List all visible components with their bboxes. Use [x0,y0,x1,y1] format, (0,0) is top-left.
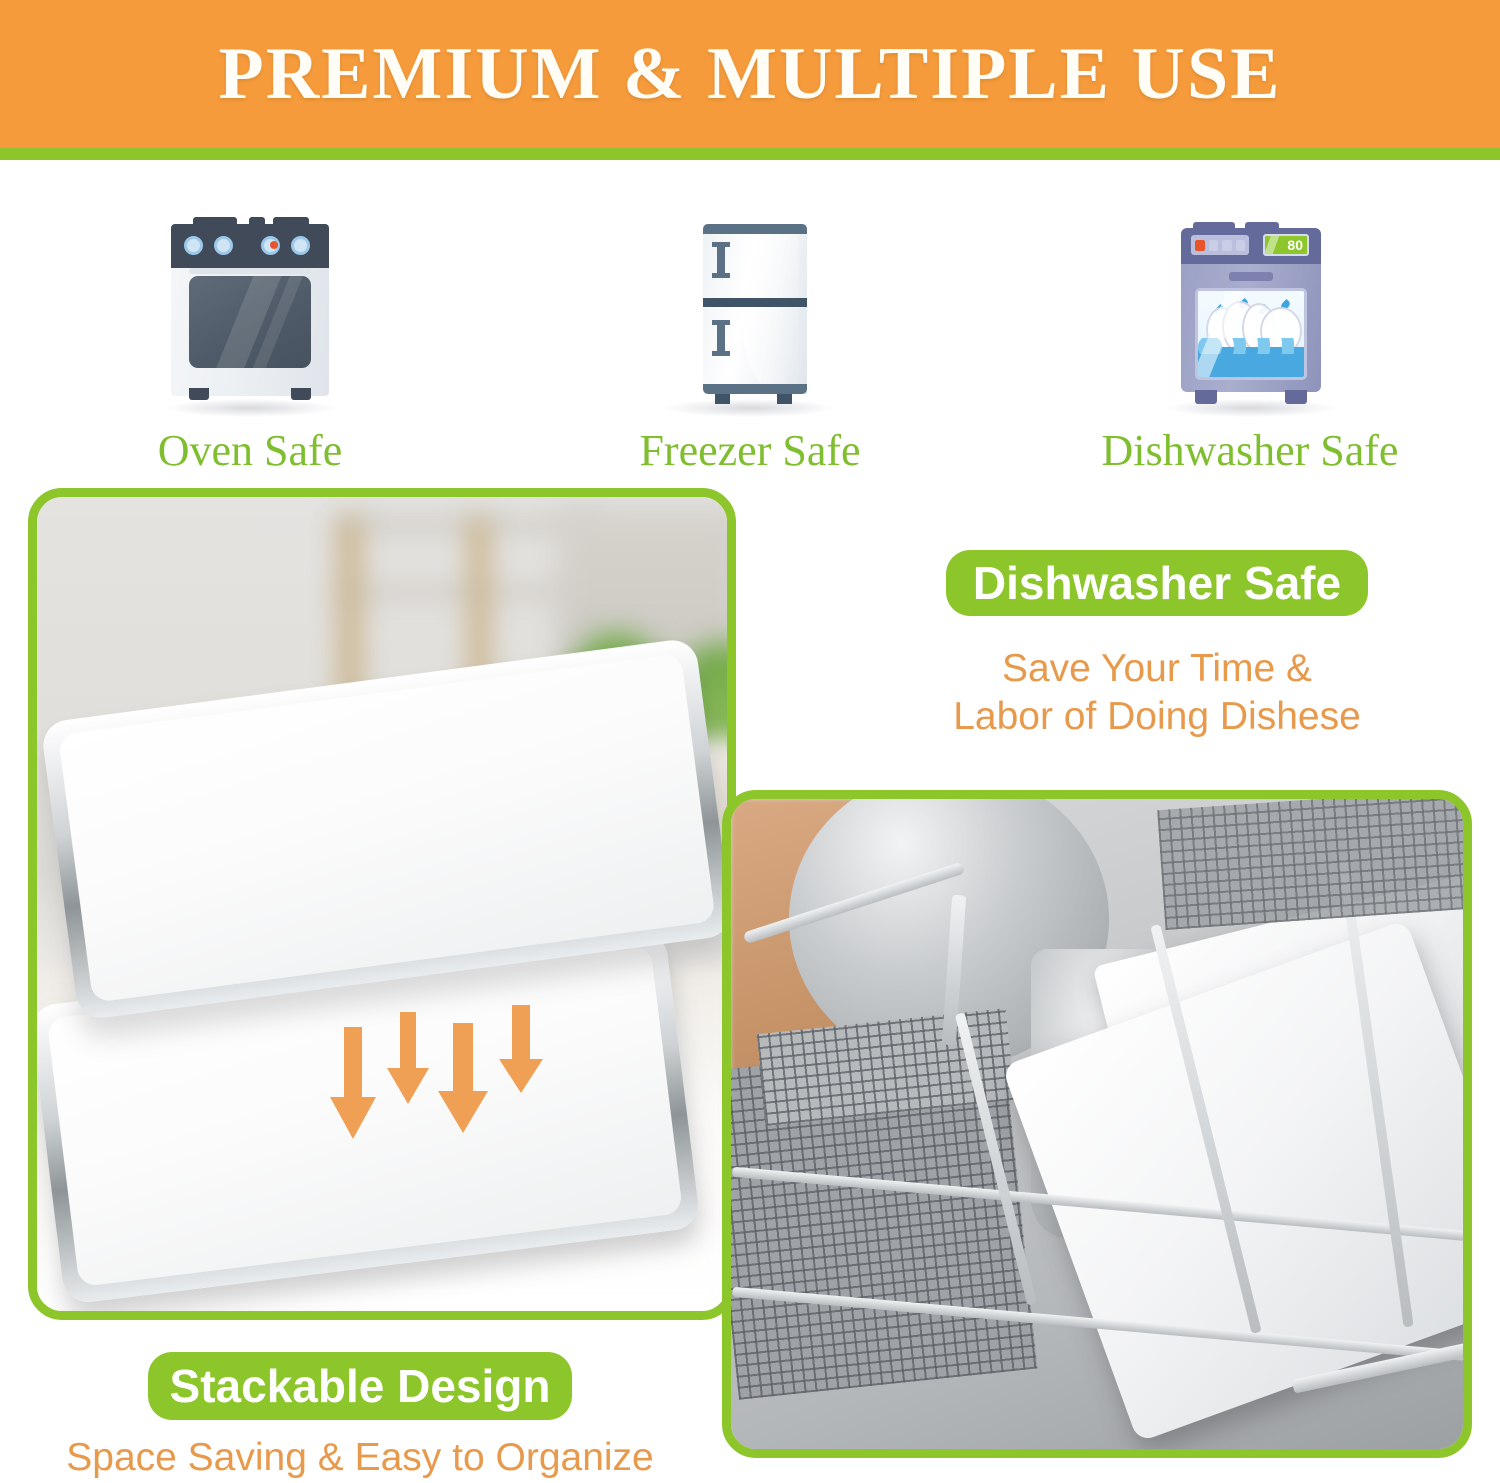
dishwasher-safe-caption: Save Your Time & Labor of Doing Dishese [946,645,1368,740]
oven-knob-2 [214,236,233,255]
header-banner: PREMIUM & MULTIPLE USE [0,0,1500,148]
dishwasher-safe-badge: Dishwasher Safe [946,550,1368,616]
dishwasher-icon: 80 [1145,202,1355,417]
freezer-door-handle [717,242,725,278]
arrow-down-icon [330,1027,376,1139]
refrigerator-top-trim [703,224,807,234]
dishwasher-window [1195,288,1307,380]
feature-freezer: Freezer Safe [500,176,1000,476]
arrow-down-icon [499,1005,543,1093]
dishwasher-button-1 [1209,240,1219,251]
stackable-design-caption: Space Saving & Easy to Organize [60,1434,660,1482]
arrow-down-icon [387,1012,429,1104]
background-wood-post [337,517,363,707]
dishwasher-button-2 [1222,240,1232,251]
oven-door-window [189,276,311,368]
feature-icon-row: Oven Safe Freezer Safe [0,176,1500,476]
fridge-door-handle [717,320,725,356]
feature-oven: Oven Safe [0,176,500,476]
infographic-page: PREMIUM & MULTIPLE USE [0,0,1500,1483]
upper-rack-mesh [1157,790,1472,930]
dishwasher-display: 80 [1263,234,1309,256]
oven-shadow [166,399,334,417]
refrigerator-door-divider [703,298,807,307]
header-divider-rule [0,148,1500,160]
oven-knob-1 [184,236,203,255]
stackable-design-badge-label: Stackable Design [170,1359,551,1413]
dishwasher-interior-photo [722,790,1472,1458]
refrigerator-shadow [666,399,834,417]
feature-label-freezer: Freezer Safe [639,425,860,476]
stackable-design-badge: Stackable Design [148,1352,572,1420]
oven-control-panel [171,224,329,268]
dishwasher-shadow [1166,399,1334,417]
oven-indicator-light [270,241,278,249]
dishwasher-door-handle [1229,272,1273,281]
oven-icon [145,202,355,417]
stackable-caption-line-1: Space Saving & Easy to Organize [60,1434,660,1482]
feature-label-dishwasher: Dishwasher Safe [1102,425,1399,476]
oven-foot-left [189,388,209,400]
dishwasher-foot-right [1285,390,1307,404]
refrigerator-icon [645,202,855,417]
page-title: PREMIUM & MULTIPLE USE [219,32,1282,117]
oven-foot-right [291,388,311,400]
dishwasher-display-value: 80 [1287,238,1303,252]
feature-label-oven: Oven Safe [158,425,343,476]
dishwasher-power-button [1195,240,1205,251]
dishwasher-caption-line-1: Save Your Time & [946,645,1368,693]
arrow-down-icon [438,1023,488,1133]
dishwasher-button-group [1191,235,1249,255]
refrigerator-gloss [741,228,799,388]
refrigerator-bottom-trim [703,384,807,394]
refrigerator-foot-right [777,394,792,404]
dishwasher-safe-badge-label: Dishwasher Safe [973,556,1341,610]
oven-door-handle [189,268,311,274]
stackable-trays-photo [28,488,736,1320]
feature-dishwasher: 80 Dishwashe [1000,176,1500,476]
dishwasher-caption-line-2: Labor of Doing Dishese [946,693,1368,741]
dishwasher-button-3 [1236,240,1246,251]
refrigerator-foot-left [715,394,730,404]
dishwasher-foot-left [1195,390,1217,404]
oven-knob-4 [291,236,310,255]
